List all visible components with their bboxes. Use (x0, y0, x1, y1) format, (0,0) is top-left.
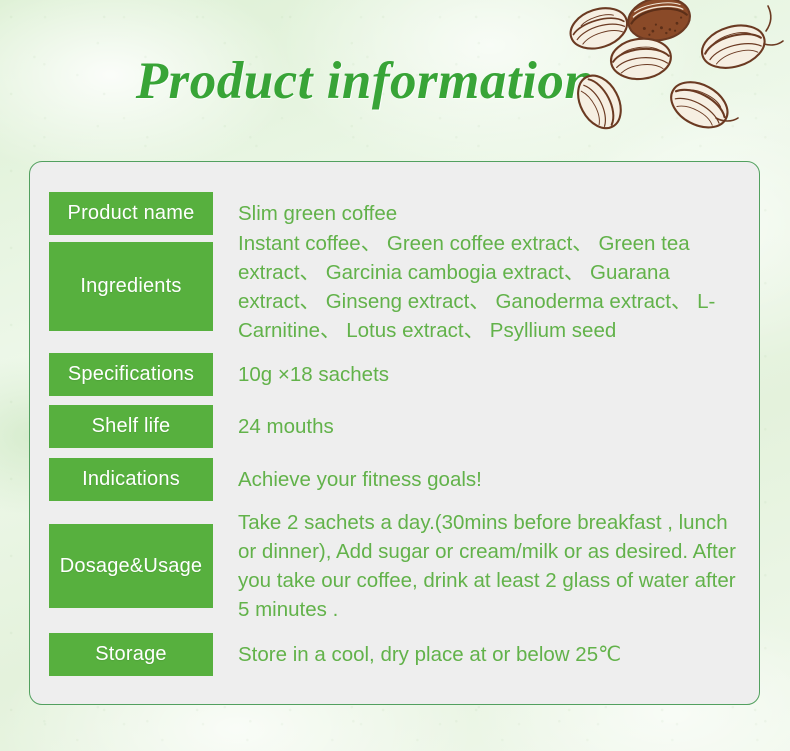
row-value-text: Store in a cool, dry place at or below 2… (238, 640, 621, 669)
row-label-dosage-usage: Dosage&Usage (49, 524, 213, 608)
row-label-specifications: Specifications (49, 353, 213, 396)
product-info-card: Product name Slim green coffee Ingredien… (29, 161, 760, 705)
table-row: Dosage&Usage Take 2 sachets a day.(30min… (49, 524, 745, 608)
row-label-ingredients: Ingredients (49, 242, 213, 331)
row-label-product-name: Product name (49, 192, 213, 235)
row-value-indications: Achieve your fitness goals! (238, 458, 745, 501)
table-row: Ingredients Instant coffee、 Green coffee… (49, 242, 745, 331)
row-value-text: Instant coffee、 Green coffee extract、 Gr… (238, 229, 745, 345)
row-value-ingredients: Instant coffee、 Green coffee extract、 Gr… (238, 242, 745, 331)
row-value-specifications: 10g ×18 sachets (238, 353, 745, 396)
row-label-storage: Storage (49, 633, 213, 676)
row-value-text: 10g ×18 sachets (238, 360, 389, 389)
row-label-shelf-life: Shelf life (49, 405, 213, 448)
table-row: Indications Achieve your fitness goals! (49, 458, 745, 501)
row-label-indications: Indications (49, 458, 213, 501)
row-value-text: Slim green coffee (238, 199, 397, 228)
product-information-page: Product information (0, 0, 790, 751)
row-value-text: 24 mouths (238, 412, 334, 441)
row-value-shelf-life: 24 mouths (238, 405, 745, 448)
row-value-dosage-usage: Take 2 sachets a day.(30mins before brea… (238, 524, 745, 608)
table-row: Storage Store in a cool, dry place at or… (49, 633, 745, 676)
table-row: Specifications 10g ×18 sachets (49, 353, 745, 396)
row-value-storage: Store in a cool, dry place at or below 2… (238, 633, 745, 676)
row-value-text: Achieve your fitness goals! (238, 465, 482, 494)
table-row: Shelf life 24 mouths (49, 405, 745, 448)
row-value-text: Take 2 sachets a day.(30mins before brea… (238, 508, 745, 624)
coffee-beans-icon (552, 0, 790, 136)
